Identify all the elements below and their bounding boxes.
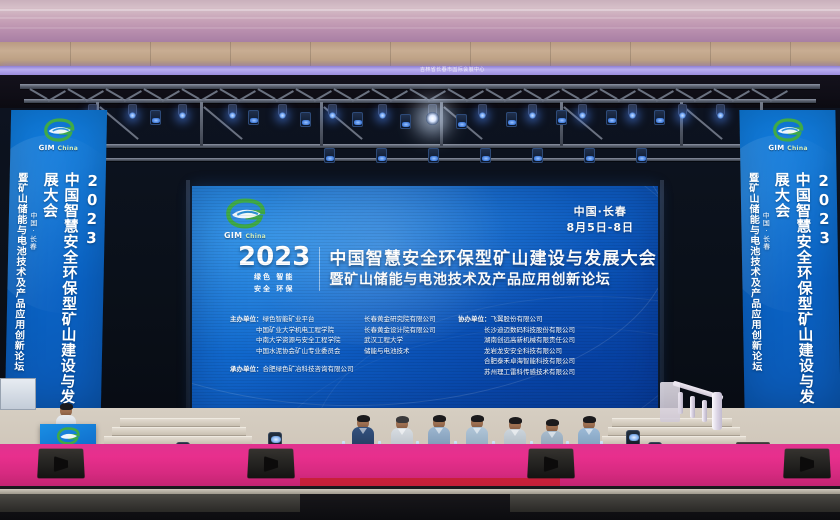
host-item: 武汉工程大学 <box>364 335 452 346</box>
moving-head-light <box>376 148 387 163</box>
organizer-value: 合肥绿色矿冶科技咨询有限公司 <box>263 365 354 373</box>
banner-right-title-main: 中国智慧安全环保型矿山建设与发展大会 <box>771 172 817 410</box>
moving-head-light <box>248 110 259 125</box>
stage-lamp <box>178 104 187 116</box>
gim-logo-icon <box>771 118 805 142</box>
coorganizer-item: 飞翼股份有限公司 <box>491 315 543 323</box>
host-item: 长春黄金设计院有限公司 <box>364 325 452 336</box>
coorganizer-item: 湖南创远高新机械有限责任公司 <box>458 335 644 346</box>
stage-lamp <box>578 104 587 116</box>
stage-photo: 吉林省长春市国际会展中心 <box>0 0 840 520</box>
screen-title-sub: 暨矿山储能与电池技术及产品应用创新论坛 <box>329 271 657 290</box>
stage-monitor-speaker <box>527 449 575 479</box>
stage-lamp <box>228 104 237 116</box>
banner-right-brand: GIM China <box>765 144 811 152</box>
side-display-screen <box>0 378 36 410</box>
moving-head-light <box>324 148 335 163</box>
banner-left-logo: GIM China <box>35 118 82 152</box>
coorganizer-item: 长沙迪迈数码科技股份有限公司 <box>458 325 644 336</box>
venue-ceiling <box>0 0 840 42</box>
stair-newel-post <box>712 392 722 430</box>
led-strip-text: 吉林省长春市国际会展中心 <box>420 67 485 75</box>
host-column-2: 长春黄金研究院有限公司 长春黄金设计院有限公司 武汉工程大学 储能与电池技术 <box>364 314 452 377</box>
gim-logo-icon <box>41 118 76 142</box>
banner-right-logo: GIM China <box>765 118 812 152</box>
stage-lamp-bright <box>428 104 437 116</box>
stage-monitor-speaker <box>37 449 85 479</box>
host-item: 中国矿业大学机电工程学院 <box>230 325 358 336</box>
stage-lamp <box>128 104 137 116</box>
moving-head-light <box>556 110 567 125</box>
screen-city: 中国·长春 <box>566 204 634 220</box>
gim-logo-icon <box>223 198 267 229</box>
moving-head-light <box>506 112 517 127</box>
moving-head-light <box>606 110 617 125</box>
screen-organizations: 主办单位：绿色智能矿业平台 中国矿业大学机电工程学院 中南大学资源与安全工程学院… <box>230 314 644 377</box>
moving-head-light <box>400 114 411 129</box>
stage-lamp <box>278 104 287 116</box>
host-column-1: 主办单位：绿色智能矿业平台 中国矿业大学机电工程学院 中南大学资源与安全工程学院… <box>230 314 358 377</box>
stage-lamp <box>328 104 337 116</box>
ceiling-beige-band <box>0 42 840 66</box>
coorganizer-label: 协办单位： <box>458 315 491 323</box>
host-label: 主办单位： <box>230 315 263 323</box>
screen-logo: GIM China <box>214 198 276 240</box>
screen-brand: GIM China <box>214 231 276 240</box>
banner-right: GIM China 2023 中国智慧安全环保型矿山建设与发展大会 中国·长春 … <box>739 110 840 410</box>
lighting-truss <box>0 82 840 174</box>
moving-head-light <box>300 112 311 127</box>
moving-head-light <box>532 148 543 163</box>
main-led-screen: GIM China 中国·长春 8月5日-8日 2023 绿色 智能 安全 环保… <box>192 186 658 414</box>
screen-city-date: 中国·长春 8月5日-8日 <box>566 204 634 236</box>
banner-right-year: 2023 <box>814 172 836 410</box>
stage-lamp <box>478 104 487 116</box>
screen-slogan-1: 绿色 智能 <box>238 272 310 282</box>
moving-head-light <box>456 114 467 129</box>
moving-head-light <box>480 148 491 163</box>
host-item: 中国水泥协会矿山专业委员会 <box>230 346 358 357</box>
gim-logo-icon <box>55 427 81 445</box>
coorganizer-column: 协办单位：飞翼股份有限公司 长沙迪迈数码科技股份有限公司 湖南创远高新机械有限责… <box>458 314 644 377</box>
moving-head-light <box>428 148 439 163</box>
stage-lamp <box>628 104 637 116</box>
stage-lamp <box>378 104 387 116</box>
screen-title-row: 2023 绿色 智能 安全 环保 中国智慧安全环保型矿山建设与发展大会 暨矿山储… <box>238 244 657 294</box>
moving-head-light <box>654 110 665 125</box>
screen-year-block: 2023 绿色 智能 安全 环保 <box>238 244 310 294</box>
banner-left-brand: GIM China <box>35 144 81 152</box>
moving-head-light <box>150 110 161 125</box>
coorganizer-item: 合肥泰禾卓海智能科技有限公司 <box>458 356 644 367</box>
screen-date: 8月5日-8日 <box>566 220 634 236</box>
screen-title-block: 中国智慧安全环保型矿山建设与发展大会 暨矿山储能与电池技术及产品应用创新论坛 <box>329 249 657 290</box>
stage-lamp <box>716 104 725 116</box>
stage-monitor-speaker <box>783 449 831 479</box>
moving-head-light <box>352 112 363 127</box>
screen-title-main: 中国智慧安全环保型矿山建设与发展大会 <box>329 249 657 270</box>
coorganizer-item: 龙岩龙安安全科技有限公司 <box>458 346 644 357</box>
banner-left-title-main: 中国智慧安全环保型矿山建设与发展大会 <box>36 172 83 410</box>
screen-slogan-2: 安全 环保 <box>238 284 310 294</box>
banner-left: GIM China 2023 中国智慧安全环保型矿山建设与发展大会 中国·长春 … <box>5 110 107 410</box>
moving-head-light <box>584 148 595 163</box>
stage-lamp <box>528 104 537 116</box>
host-item: 长春黄金研究院有限公司 <box>364 314 452 325</box>
host-item: 绿色智能矿业平台 <box>263 315 315 323</box>
banner-left-year: 2023 <box>79 172 102 410</box>
moving-head-light <box>636 148 647 163</box>
coorganizer-item: 苏州理工雷科传感技术有限公司 <box>458 367 644 378</box>
host-item: 中南大学资源与安全工程学院 <box>230 335 358 346</box>
title-divider <box>319 247 320 291</box>
organizer-label: 承办单位： <box>230 365 263 373</box>
host-item: 储能与电池技术 <box>364 346 452 357</box>
screen-year: 2023 <box>238 244 310 270</box>
stage-lamp <box>678 104 687 116</box>
stage-monitor-speaker <box>247 449 295 479</box>
